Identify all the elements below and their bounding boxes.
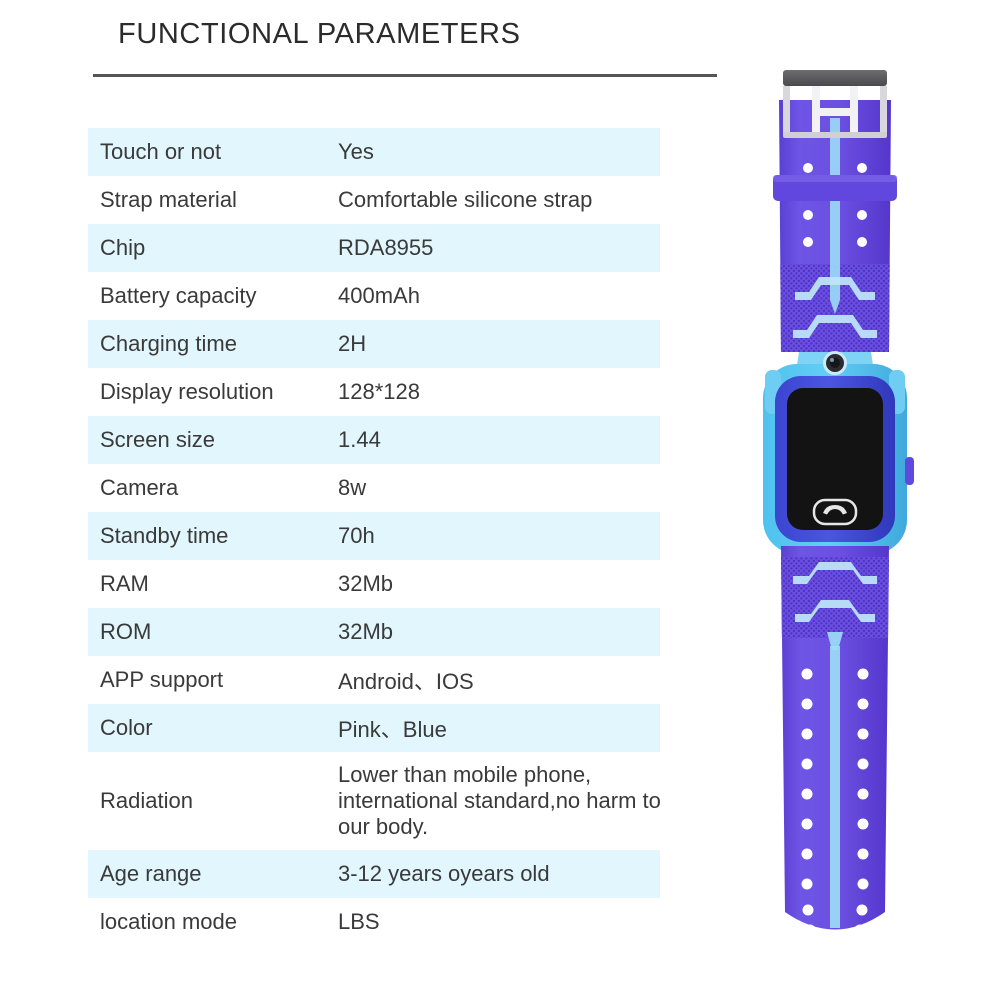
spec-label: Display resolution <box>88 379 338 405</box>
spec-label: Age range <box>88 861 338 887</box>
spec-table: Touch or notYesStrap materialComfortable… <box>88 128 748 946</box>
spec-row: RadiationLower than mobile phone, intern… <box>88 752 748 850</box>
spec-label: Battery capacity <box>88 283 338 309</box>
spec-value: Lower than mobile phone, international s… <box>338 762 668 840</box>
spec-row: ColorPink、Blue <box>88 704 748 752</box>
spec-label: Standby time <box>88 523 338 549</box>
spec-row: Strap materialComfortable silicone strap <box>88 176 748 224</box>
title-divider <box>93 74 717 77</box>
watch-case <box>763 351 914 554</box>
product-image-smartwatch <box>735 52 935 952</box>
spec-row: Camera8w <box>88 464 748 512</box>
spec-row: RAM32Mb <box>88 560 748 608</box>
spec-value: 32Mb <box>338 571 748 597</box>
spec-label: APP support <box>88 667 338 693</box>
spec-value: 8w <box>338 475 748 501</box>
spec-value: Yes <box>338 139 748 165</box>
spec-label: ROM <box>88 619 338 645</box>
spec-label: Touch or not <box>88 139 338 165</box>
spec-row: Touch or notYes <box>88 128 748 176</box>
strap-keeper <box>773 175 897 201</box>
spec-label: Radiation <box>88 788 338 814</box>
spec-value: 3-12 years oyears old <box>338 861 748 887</box>
upper-strap <box>775 100 895 359</box>
spec-label: location mode <box>88 909 338 935</box>
spec-row: APP supportAndroid、IOS <box>88 656 748 704</box>
spec-label: Strap material <box>88 187 338 213</box>
camera-icon <box>823 351 847 375</box>
spec-label: Screen size <box>88 427 338 453</box>
spec-label: RAM <box>88 571 338 597</box>
spec-row: ChipRDA8955 <box>88 224 748 272</box>
spec-value: 32Mb <box>338 619 748 645</box>
spec-row: Battery capacity400mAh <box>88 272 748 320</box>
spec-value: RDA8955 <box>338 235 748 261</box>
spec-row: ROM32Mb <box>88 608 748 656</box>
spec-value: 400mAh <box>338 283 748 309</box>
spec-value: Pink、Blue <box>338 712 748 744</box>
page-title: FUNCTIONAL PARAMETERS <box>118 18 521 51</box>
spec-label: Camera <box>88 475 338 501</box>
spec-value: Comfortable silicone strap <box>338 187 748 213</box>
spec-label: Color <box>88 715 338 741</box>
spec-row: location modeLBS <box>88 898 748 946</box>
side-button <box>905 457 914 485</box>
spec-row: Charging time2H <box>88 320 748 368</box>
spec-value: 128*128 <box>338 379 748 405</box>
spec-row: Standby time70h <box>88 512 748 560</box>
lower-strap <box>775 546 895 936</box>
spec-label: Chip <box>88 235 338 261</box>
spec-value: LBS <box>338 909 748 935</box>
spec-value: 2H <box>338 331 748 357</box>
spec-value: 1.44 <box>338 427 748 453</box>
spec-value: 70h <box>338 523 748 549</box>
spec-value: Android、IOS <box>338 664 748 696</box>
spec-row: Display resolution128*128 <box>88 368 748 416</box>
spec-row: Screen size1.44 <box>88 416 748 464</box>
spec-label: Charging time <box>88 331 338 357</box>
spec-row: Age range3-12 years oyears old <box>88 850 748 898</box>
